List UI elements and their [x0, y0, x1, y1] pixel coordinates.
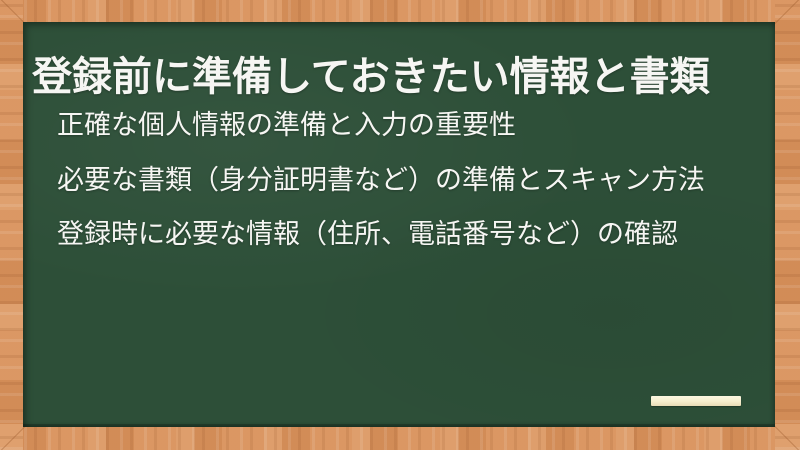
- chalkboard-surface: 登録前に準備しておきたい情報と書類 正確な個人情報の準備と入力の重要性 必要な書…: [23, 22, 775, 427]
- slide-title: 登録前に準備しておきたい情報と書類: [32, 54, 767, 101]
- frame-rail-bottom: [0, 427, 800, 450]
- bullet-item: 必要な書類（身分証明書など）の準備とスキャン方法: [57, 162, 749, 199]
- frame-stile-right: [775, 0, 800, 450]
- bullet-item: 正確な個人情報の準備と入力の重要性: [57, 107, 749, 144]
- frame-rail-top: [0, 0, 800, 22]
- frame-stile-left: [0, 0, 23, 450]
- chalk-stick-icon: [651, 396, 741, 406]
- bullet-item: 登録時に必要な情報（住所、電話番号など）の確認: [57, 216, 749, 253]
- bullet-list: 正確な個人情報の準備と入力の重要性 必要な書類（身分証明書など）の準備とスキャン…: [57, 107, 749, 253]
- board-ledge-shadow: [23, 424, 775, 427]
- chalkboard-slide: 登録前に準備しておきたい情報と書類 正確な個人情報の準備と入力の重要性 必要な書…: [0, 0, 800, 450]
